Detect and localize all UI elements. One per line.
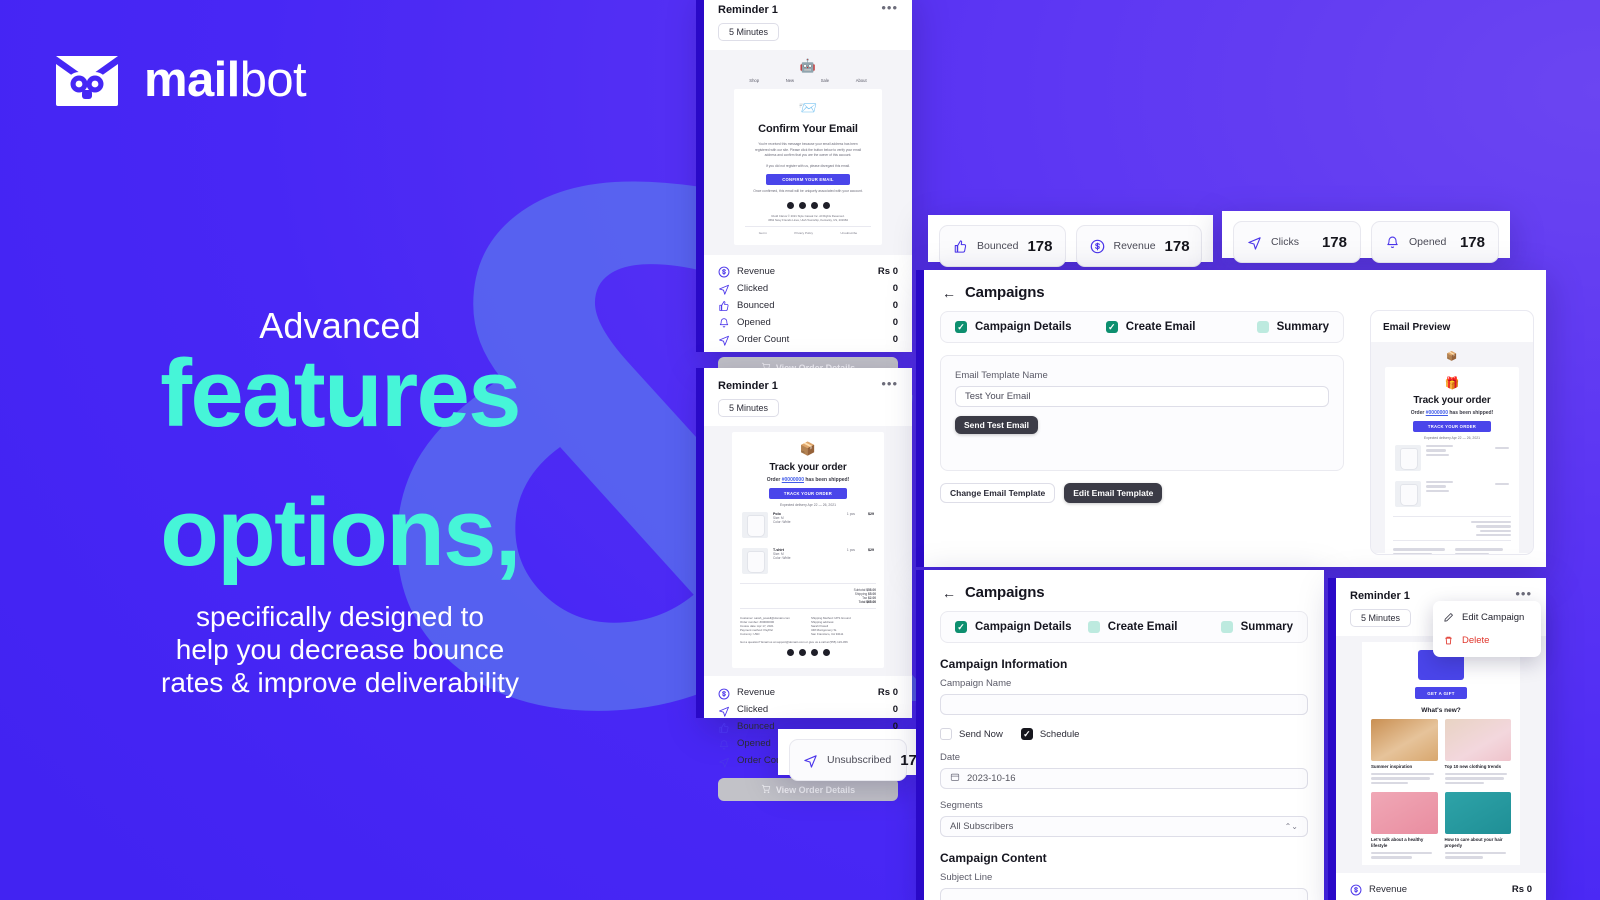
thumbs-up-icon [953,239,968,254]
stat-value: 0 [893,300,898,311]
stat-value: 0 [893,334,898,345]
email-cta-button[interactable]: TRACK YOUR ORDER [769,488,847,499]
gift-icon: 🎁 [1393,376,1511,390]
stat-label: Order Count [737,334,789,345]
checkbox-checked-icon[interactable] [1106,321,1118,333]
footer-link-privacy[interactable]: Privacy Policy [794,231,813,235]
hero-sub-line-1: specifically designed to [0,600,680,633]
step-create-email[interactable]: Create Email [1106,321,1257,333]
stat-label: Revenue [737,687,775,698]
email-heading: Confirm Your Email [745,123,871,135]
email-template-name-value: Test Your Email [965,391,1030,402]
article-thumbnail [1371,719,1438,761]
schedule-label: Schedule [1040,729,1080,740]
stat-value: 0 [893,317,898,328]
subheading-suffix: has been shipped! [804,477,849,483]
preview-info-blocks [1393,545,1511,555]
email-template-name-input[interactable]: Test Your Email [955,386,1329,407]
article-body [1445,773,1512,784]
stat-row-bounced: Bounced 0 [718,297,898,314]
step-indicator: Campaign Details Create Email Summary [940,611,1308,643]
article-body [1445,852,1512,859]
stat-value: 0 [893,704,898,715]
stat-label: Opened [1409,236,1446,248]
preview-email-mock: 🎁 Track your order Order #0000000 has be… [1385,367,1519,555]
reminder-stats-list: Revenue Rs 0 Clicked 0 Bounced 0 Opened … [1336,873,1546,900]
stat-label: Opened [737,317,771,328]
subject-line-label: Subject Line [940,872,1308,883]
stat-value: Rs 0 [878,266,898,277]
checkbox-unchecked-icon[interactable] [1221,621,1233,633]
stat-strip: Bounced 178 Revenue 178 [928,215,1213,277]
stat-label: Clicks [1271,236,1299,248]
chevron-updown-icon[interactable]: ⌃⌄ [1285,823,1298,831]
email-template-name-label: Email Template Name [955,370,1329,381]
stat-row-clicked: Clicked 0 [718,701,898,718]
change-email-template-button[interactable]: Change Email Template [940,483,1055,503]
facebook-icon[interactable] [787,202,794,209]
stat-label: Bounced [977,240,1018,252]
newsletter-section-title: What's new? [1371,707,1511,714]
order-totals: Subtotal $58.00 Shipping $5.00 Tax $2.00… [740,588,876,604]
stat-value: 178 [1460,234,1485,251]
checkbox-checked-icon[interactable] [955,621,967,633]
option-send-now[interactable]: Send Now [940,728,1003,740]
step-campaign-details[interactable]: Campaign Details [955,321,1106,333]
email-note: If you did not register with us, please … [745,159,871,168]
stat-label: Clicked [737,283,768,294]
email-preview-panel: Email Preview 📦 🎁 Track your order Order… [1370,310,1534,555]
mailbot-logo: mailbot [52,52,306,108]
reminder-title: Reminder 1 [718,4,778,16]
more-horizontal-icon[interactable]: ••• [881,380,898,388]
email-nav: Shop New Sale About [734,74,882,89]
stat-label: Revenue [1114,240,1156,252]
send-icon [718,282,730,294]
step-label: Summary [1277,321,1329,333]
article-title: How to care about your hair properly [1445,837,1512,849]
email-cta-button[interactable]: CONFIRM YOUR EMAIL [766,174,850,185]
step-summary[interactable]: Summary [1221,621,1293,633]
arrow-left-icon[interactable]: ← [942,286,956,300]
envelope-clock-icon: 📨 [745,99,871,117]
step-label: Campaign Details [975,321,1072,333]
thumbs-up-icon [718,299,730,311]
newsletter-email-mock: GET A GIFT What's new? Summer inspiratio… [1362,642,1520,865]
newsletter-cta-button[interactable]: GET A GIFT [1415,687,1467,699]
panel-header: ← Campaigns [924,270,1546,309]
menu-item-delete[interactable]: Delete [1433,629,1541,652]
more-horizontal-icon[interactable]: ••• [1515,590,1532,598]
product-color: Color: White [773,520,842,524]
hero-line-2: options, [0,485,680,580]
email-social-links[interactable] [745,193,871,212]
order-number-link[interactable]: #0000000 [1426,410,1448,416]
product-thumbnail [1395,481,1421,507]
hero-sub-line-3: rates & improve deliverability [0,666,680,699]
article-card[interactable]: Summer inspiration [1371,719,1438,786]
email-nav-about: About [856,78,867,83]
stat-panel-clicks-opened: Clicks 178 Opened 178 [1222,211,1510,258]
menu-item-label: Delete [1462,635,1489,646]
trash-icon [1443,635,1454,646]
dollar-circle-icon [718,265,730,277]
send-icon [718,755,730,767]
logo-wordmark: mailbot [144,56,306,105]
stat-value: 178 [1165,238,1190,255]
send-icon [718,333,730,345]
preview-email-subheading: Order #0000000 has been shipped! [1393,410,1511,416]
product-color: Color: White [773,556,842,560]
stat-label: Revenue [737,266,775,277]
checkbox-checked-icon[interactable] [1021,728,1033,740]
robot-logo-icon: 🤖 [734,58,882,74]
reminder-title: Reminder 1 [718,380,778,392]
stat-value: Rs 0 [878,687,898,698]
article-body [1371,773,1438,784]
menu-item-edit-campaign[interactable]: Edit Campaign [1433,606,1541,629]
facebook-icon[interactable] [787,649,794,656]
step-summary[interactable]: Summary [1257,321,1329,333]
more-horizontal-icon[interactable]: ••• [881,4,898,12]
dollar-circle-icon [1090,239,1105,254]
stat-card-opened[interactable]: Opened 178 [1371,221,1499,263]
article-title: Top 10 new clothing trends [1445,764,1512,770]
email-preview-title: Email Preview [1371,311,1533,342]
product-thumbnail [742,548,768,574]
page-title: Campaigns [965,584,1045,601]
email-nav-new: New [786,78,794,83]
preview-product-row [1393,440,1511,476]
article-thumbnail [1445,792,1512,834]
email-subheading: Order #0000000 has been shipped! [740,477,876,483]
stat-value: 178 [1027,238,1052,255]
twitter-icon[interactable] [799,649,806,656]
stat-card-bounced[interactable]: Bounced 178 [939,225,1066,267]
reminder-card-track-order: Reminder 1 ••• 5 Minutes 📦 Track your or… [704,368,912,718]
dollar-circle-icon [1350,883,1362,895]
instagram-icon[interactable] [811,649,818,656]
subject-line-input[interactable] [940,888,1308,900]
stat-row-opened: Opened 0 [718,314,898,331]
youtube-icon[interactable] [823,202,830,209]
product-meta: T-shirt Size: M Color: White [773,548,842,560]
step-indicator: Campaign Details Create Email Summary [940,311,1344,343]
step-label: Create Email [1126,321,1196,333]
reminder-stats-list: Revenue Rs 0 Clicked 0 Bounced 0 Opened … [704,255,912,348]
reminder-header: Reminder 1 ••• [704,368,912,392]
support-line: Got a question? Email us at support@doma… [740,636,876,644]
segments-select[interactable]: All Subscribers ⌃⌄ [940,816,1308,837]
campaigns-details-panel: ← Campaigns Campaign Details Create Emai… [924,570,1324,900]
stat-card-revenue[interactable]: Revenue 178 [1076,225,1203,267]
step-create-email[interactable]: Create Email [1088,621,1221,633]
checkbox-checked-icon[interactable] [955,321,967,333]
field-segments: Segments All Subscribers ⌃⌄ [924,800,1324,837]
product-qty: 1 pcs [847,548,855,552]
preview-totals [1393,521,1511,536]
field-date: Date 2023-10-16 [924,752,1324,789]
email-nav-shop: Shop [749,78,759,83]
stat-card-unsubscribed[interactable]: Unsubscribed 178 [789,739,907,781]
reminder-card-confirm-email: Reminder 1 ••• 5 Minutes 🤖 Shop New Sale… [704,0,912,352]
send-icon [1247,235,1262,250]
delay-pill[interactable]: 5 Minutes [718,23,779,41]
reminder-card-newsletter: Reminder 1 ••• 5 Minutes Edit Campaign D… [1336,578,1546,900]
dollar-circle-icon [718,687,730,699]
email-address: 4562 Navy Friends Lines, Utah Township, … [745,218,871,222]
stat-label: Clicked [737,704,768,715]
section-campaign-information: Campaign Information [924,643,1324,678]
field-campaign-name: Campaign Name [924,678,1324,715]
calendar-icon [950,772,960,785]
date-input[interactable]: 2023-10-16 [940,768,1308,789]
email-body-text: You're received this message because you… [745,139,871,159]
date-label: Date [940,752,1308,763]
email-template-box: Email Template Name Test Your Email Send… [940,355,1344,471]
campaign-name-input[interactable] [940,694,1308,715]
section-campaign-content: Campaign Content [924,837,1324,872]
bell-icon [718,316,730,328]
stat-value: 178 [1322,234,1347,251]
schedule-options: Send Now Schedule [924,715,1324,752]
stat-label: Revenue [1369,884,1407,895]
segments-label: Segments [940,800,1308,811]
page-title: Campaigns [965,284,1045,301]
bell-icon [718,738,730,750]
article-card[interactable]: Top 10 new clothing trends [1445,719,1512,786]
stat-card-clicks[interactable]: Clicks 178 [1233,221,1361,263]
step-label: Campaign Details [975,621,1072,633]
reminder-header: Reminder 1 ••• [704,0,912,16]
menu-item-label: Edit Campaign [1462,612,1524,623]
product-row: T-shirt Size: M Color: White 1 pcs $29 [740,543,876,579]
footer-link-getin[interactable]: Get in [759,231,767,235]
segments-value: All Subscribers [950,821,1013,832]
stat-row-revenue: Revenue Rs 0 [718,263,898,280]
product-price: $29 [868,548,874,552]
send-now-label: Send Now [959,729,1003,740]
email-canvas: GET A GIFT What's new? Summer inspiratio… [1336,636,1546,873]
reminder-header: Reminder 1 ••• [1336,578,1546,602]
product-thumbnail [1395,445,1421,471]
checkbox-unchecked-icon[interactable] [1257,321,1269,333]
product-qty: 1 pcs [847,512,855,516]
email-heading: Track your order [740,462,876,473]
delay-pill[interactable]: 5 Minutes [718,399,779,417]
panel-header: ← Campaigns [924,570,1324,609]
checkbox-unchecked-icon[interactable] [940,728,952,740]
step-label: Create Email [1108,621,1178,633]
email-body: 📦 Track your order Order #0000000 has be… [732,432,884,668]
product-row: Polo Size: M Color: White 1 pcs $29 [740,507,876,543]
bell-icon [1385,235,1400,250]
product-price: $29 [868,512,874,516]
stat-label: Unsubscribed [827,754,891,766]
logo-word-bot: bot [240,53,306,107]
order-info-blocks: Customer: sarah_powell@domain.com Order … [740,613,876,636]
hero-line-1: features [0,346,680,441]
step-label: Summary [1241,621,1293,633]
stat-label: Opened [737,738,771,749]
stat-row-clicked: Clicked 0 [718,280,898,297]
product-thumbnail [742,512,768,538]
send-icon [718,704,730,716]
option-schedule[interactable]: Schedule [1021,728,1080,740]
twitter-icon[interactable] [799,202,806,209]
pencil-icon [1443,612,1454,623]
youtube-icon[interactable] [823,649,830,656]
stat-value: 0 [893,283,898,294]
step-campaign-details[interactable]: Campaign Details [955,621,1088,633]
newsletter-articles-row-1: Summer inspiration Top 10 new clothing t… [1371,719,1511,786]
subheading-prefix: Order [767,477,782,483]
article-thumbnail [1445,719,1512,761]
stat-strip: Clicks 178 Opened 178 [1222,211,1510,273]
email-footnote: Once confirmed, this email will be uniqu… [745,189,871,193]
edit-email-template-button[interactable]: Edit Email Template [1064,483,1162,503]
stat-panel-unsubscribed: Unsubscribed 178 [778,729,918,775]
email-canvas: 📦 Track your order Order #0000000 has be… [704,426,912,676]
thumbs-up-icon [718,721,730,733]
mailbot-envelope-robot-icon [52,52,122,108]
delay-pill[interactable]: 5 Minutes [1350,609,1411,627]
stat-row-revenue: Revenue Rs 0 [1350,881,1532,898]
newsletter-articles-row-2: Let's talk about a healthy lifestyle How… [1371,792,1511,861]
reminder-title: Reminder 1 [1350,590,1410,602]
date-value: 2023-10-16 [967,773,1016,784]
cart-icon [761,784,771,796]
context-menu: Edit Campaign Delete [1433,601,1541,657]
stat-row-revenue: Revenue Rs 0 [718,684,898,701]
campaigns-create-email-panel: ← Campaigns Campaign Details Create Emai… [924,270,1546,567]
article-thumbnail [1371,792,1438,834]
campaign-name-label: Campaign Name [940,678,1308,689]
shipping-block: Shipping Method: UPS Ground Shipping add… [811,616,876,636]
stat-panel-bounced-revenue: Bounced 178 Revenue 178 [928,215,1213,262]
promo-canvas: & mailbot Advanced features options, spe… [0,0,1600,900]
field-subject-line: Subject Line [924,872,1324,900]
hero-copy: Advanced features options, specifically … [0,306,680,699]
arrow-left-icon[interactable]: ← [942,586,956,600]
stat-strip: Unsubscribed 178 [778,729,918,791]
preview-email-heading: Track your order [1393,395,1511,406]
article-card[interactable]: Let's talk about a healthy lifestyle [1371,792,1438,861]
total-row: Total $65.00 [740,600,876,604]
stat-label: Bounced [737,721,775,732]
box-package-icon: 📦 [740,441,876,457]
send-test-email-button[interactable]: Send Test Email [955,416,1038,434]
article-body [1371,852,1438,859]
logo-word-mail: mail [144,53,240,107]
stat-value: Rs 0 [1512,884,1532,895]
article-card[interactable]: How to care about your hair properly [1445,792,1512,861]
product-meta: Polo Size: M Color: White [773,512,842,524]
customer-block: Customer: sarah_powell@domain.com Order … [740,616,805,636]
email-footer-links[interactable]: Get in Privacy Policy Unsubscribe [745,231,871,235]
email-preview-body: 📦 🎁 Track your order Order #0000000 has … [1371,342,1533,553]
checkbox-unchecked-icon[interactable] [1088,621,1100,633]
box-package-icon: 📦 [1385,351,1519,367]
preview-product-row [1393,476,1511,512]
article-title: Summer inspiration [1371,764,1438,770]
email-body: 📨 Confirm Your Email You're received thi… [734,89,882,245]
preview-email-cta[interactable]: TRACK YOUR ORDER [1413,421,1491,432]
email-social-links[interactable] [740,644,876,659]
email-canvas: 🤖 Shop New Sale About 📨 Confirm Your Ema… [704,50,912,255]
footer-link-unsubscribe[interactable]: Unsubscribe [841,231,858,235]
instagram-icon[interactable] [811,202,818,209]
send-icon [803,753,818,768]
order-number-link[interactable]: #0000000 [782,477,804,483]
stat-label: Bounced [737,300,775,311]
article-title: Let's talk about a healthy lifestyle [1371,837,1438,849]
hero-sub-line-2: help you decrease bounce [0,633,680,666]
stat-row-order-count: Order Count 0 [718,331,898,348]
email-nav-sale: Sale [821,78,829,83]
